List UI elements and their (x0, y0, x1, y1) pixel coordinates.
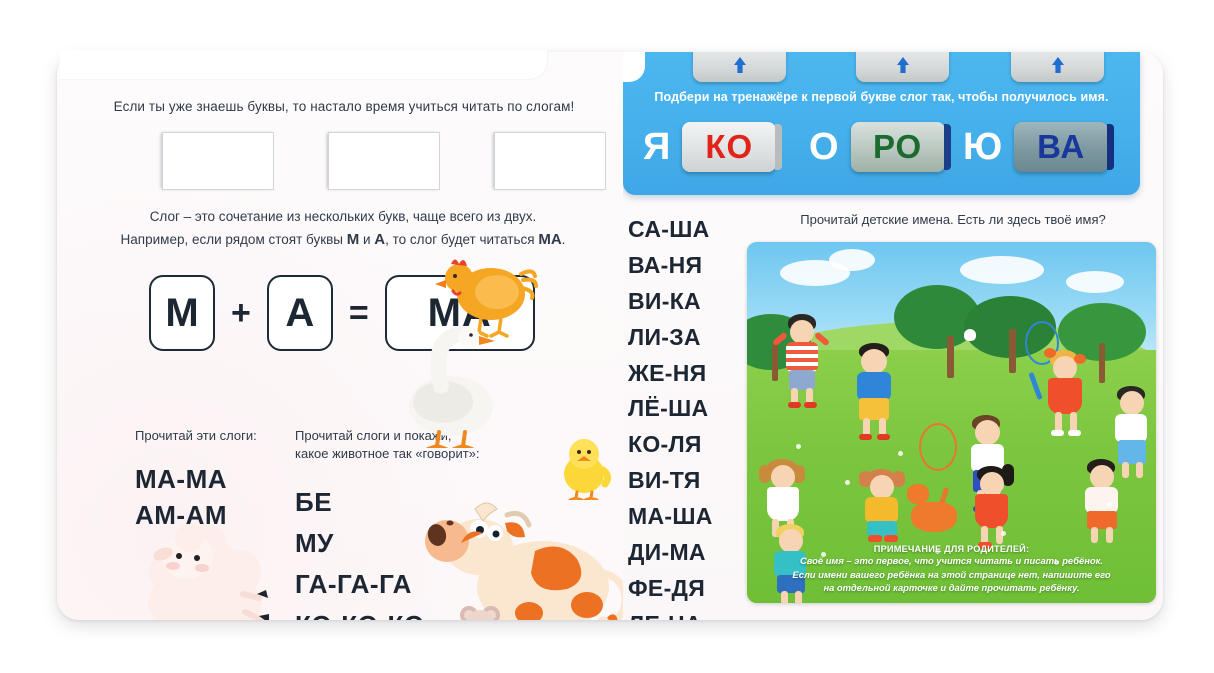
name-item: ВА-НЯ (628, 248, 746, 284)
up-arrow-icon (1051, 56, 1065, 74)
trainer-first-letter: Я (643, 128, 670, 166)
name-item: ФЕ-ДЯ (628, 571, 746, 607)
definition-letter-m: М (347, 231, 360, 248)
trainer-group-2: О РО (809, 122, 945, 172)
name-item: ДИ-МА (628, 535, 746, 571)
shuttlecock (964, 329, 976, 341)
trainer-syllable-text: РО (873, 128, 922, 166)
left-page: Если ты уже знаешь буквы, то настало вре… (57, 52, 623, 620)
cat-illustration (911, 502, 957, 532)
equation-letter-right: А (267, 275, 333, 351)
definition-line-2c: , то слог будет читаться (385, 232, 538, 247)
column-a-title: Прочитай эти слоги: (135, 427, 300, 445)
slider-edge (775, 124, 782, 170)
trainer-syllable-slider[interactable]: ВА (1014, 122, 1108, 172)
trainer-group-1: Я КО (643, 122, 776, 172)
parents-note-title: ПРИМЕЧАНИЕ ДЛЯ РОДИТЕЛЕЙ: (755, 544, 1148, 554)
right-page: Подбери на тренажёре к первой букве слог… (623, 52, 1163, 620)
slider-pull-tab-1[interactable] (693, 52, 786, 82)
name-item: СА-ША (628, 212, 746, 248)
cloud (1066, 271, 1124, 293)
slider-pull-tab-2[interactable] (856, 52, 949, 82)
flower (1107, 502, 1112, 507)
page-stage: Если ты уже знаешь буквы, то настало вре… (0, 0, 1214, 673)
name-item: ВИ-ТЯ (628, 463, 746, 499)
definition-line-1: Слог – это сочетание из нескольких букв,… (150, 209, 537, 224)
slider-edge (944, 124, 951, 170)
parents-note-line-1: Своё имя – это первое, что учится читать… (755, 554, 1148, 568)
cloud (829, 249, 875, 271)
definition-letter-a: А (374, 231, 385, 248)
trainer-syllable-text: ВА (1037, 128, 1085, 166)
name-item: ВИ-КА (628, 284, 746, 320)
parents-note: ПРИМЕЧАНИЕ ДЛЯ РОДИТЕЛЕЙ: Своё имя – это… (755, 544, 1148, 595)
write-box-1[interactable] (162, 132, 274, 190)
write-box-3[interactable] (494, 132, 606, 190)
trainer-syllable-slider[interactable]: КО (682, 122, 776, 172)
trainer-first-letter: О (809, 128, 839, 166)
cow-illustration (417, 495, 623, 620)
names-list: СА-ША ВА-НЯ ВИ-КА ЛИ-ЗА ЖЕ-НЯ ЛЁ-ША КО-Л… (628, 212, 746, 620)
definition-line-2a: Например, если рядом стоят буквы (121, 232, 347, 247)
trainer-slider-row: Я КО О РО Ю ВА (623, 122, 1140, 182)
equation-equals-sign: = (349, 294, 369, 333)
syllable-item: МА-МА (135, 461, 300, 498)
goose-illustration (393, 314, 511, 448)
trainer-syllable-text: КО (705, 128, 753, 166)
chick-illustration (555, 432, 613, 500)
trainer-instruction: Подбери на тренажёре к первой букве слог… (623, 90, 1140, 104)
trainer-syllable-slider[interactable]: РО (851, 122, 945, 172)
intro-text: Если ты уже знаешь буквы, то настало вре… (104, 99, 584, 114)
tennis-racket (919, 423, 957, 471)
name-item: ЛИ-ЗА (628, 320, 746, 356)
name-item: ЖЕ-НЯ (628, 356, 746, 392)
children-playing-illustration: ПРИМЕЧАНИЕ ДЛЯ РОДИТЕЛЕЙ: Своё имя – это… (747, 242, 1156, 603)
slider-pull-tab-3[interactable] (1011, 52, 1104, 82)
up-arrow-icon (896, 56, 910, 74)
read-names-caption: Прочитай детские имена. Есть ли здесь тв… (753, 212, 1153, 227)
sheep-illustration (129, 502, 289, 620)
tree-trunk (772, 343, 778, 381)
name-item: КО-ЛЯ (628, 427, 746, 463)
up-arrow-icon (733, 56, 747, 74)
name-item: ЛЁ-ША (628, 391, 746, 427)
definition-and: и (359, 232, 374, 247)
trainer-panel-corner-cut (623, 52, 645, 82)
definition-text: Слог – это сочетание из нескольких букв,… (93, 207, 593, 251)
parents-note-line-2: Если имени вашего ребёнка на этой страни… (755, 568, 1148, 582)
write-box-2[interactable] (328, 132, 440, 190)
equation-letter-left: М (149, 275, 215, 351)
trainer-group-3: Ю ВА (963, 122, 1108, 172)
definition-period: . (562, 232, 566, 247)
mouse-illustration (451, 593, 513, 620)
card-top-notch (60, 50, 548, 80)
definition-result: МА (538, 231, 561, 248)
write-boxes (104, 132, 594, 194)
trainer-panel: Подбери на тренажёре к первой букве слог… (623, 52, 1140, 195)
tree-trunk (947, 336, 954, 378)
flower (1001, 531, 1006, 536)
name-item: ЛЕ-НА (628, 607, 746, 620)
trainer-first-letter: Ю (963, 128, 1002, 166)
equation-plus-sign: + (231, 294, 251, 333)
tree-trunk (1099, 343, 1105, 383)
parents-note-line-3: на отдельной карточке и дайте прочитать … (755, 581, 1148, 595)
cat-head (907, 484, 929, 504)
tree-trunk (1009, 329, 1016, 373)
slider-edge (1107, 124, 1114, 170)
name-item: МА-ША (628, 499, 746, 535)
